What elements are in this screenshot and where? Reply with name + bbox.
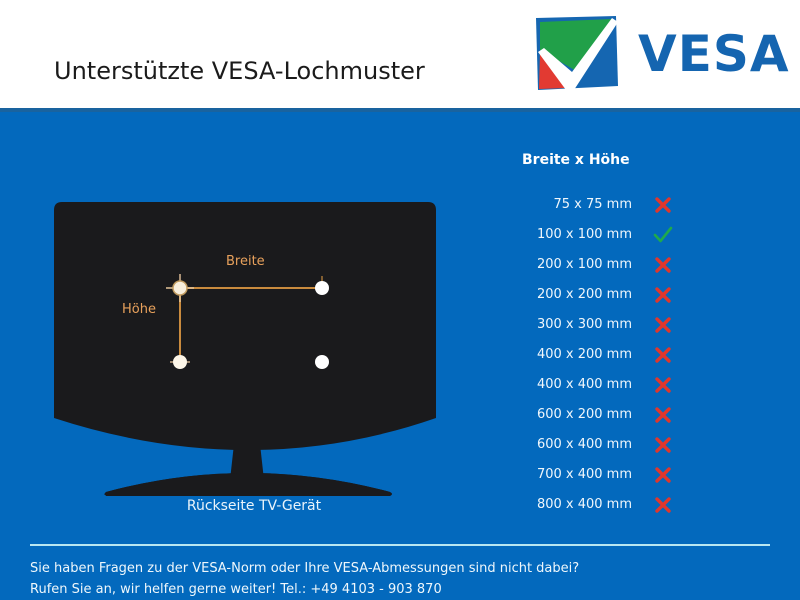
height-dimension-label: Höhe xyxy=(122,302,156,317)
vesa-size-label: 300 x 300 mm xyxy=(490,317,632,332)
vesa-size-label: 700 x 400 mm xyxy=(490,467,632,482)
table-row: 200 x 100 mm xyxy=(490,254,720,284)
vesa-size-label: 800 x 400 mm xyxy=(490,497,632,512)
page-title: Unterstützte VESA-Lochmuster xyxy=(54,57,425,85)
footer-line-2: Rufen Sie an, wir helfen gerne weiter! T… xyxy=(30,579,579,600)
vesa-size-label: 600 x 200 mm xyxy=(490,407,632,422)
tv-rear-view-icon xyxy=(44,192,464,582)
vesa-size-label: 75 x 75 mm xyxy=(490,197,632,212)
vesa-logo: VESA xyxy=(534,16,784,92)
vesa-size-label: 400 x 400 mm xyxy=(490,377,632,392)
vesa-size-label: 100 x 100 mm xyxy=(490,227,632,242)
table-column-header: Breite x Höhe xyxy=(522,152,630,168)
unsupported-cross-icon xyxy=(652,374,674,396)
table-row: 800 x 400 mm xyxy=(490,494,720,524)
unsupported-cross-icon xyxy=(652,404,674,426)
table-row: 400 x 200 mm xyxy=(490,344,720,374)
table-row: 400 x 400 mm xyxy=(490,374,720,404)
vesa-size-label: 200 x 200 mm xyxy=(490,287,632,302)
table-row: 300 x 300 mm xyxy=(490,314,720,344)
unsupported-cross-icon xyxy=(652,254,674,276)
table-row: 75 x 75 mm xyxy=(490,194,720,224)
mounting-hole-icon xyxy=(173,281,187,295)
diagram-caption: Rückseite TV-Gerät xyxy=(44,498,464,514)
unsupported-cross-icon xyxy=(652,434,674,456)
vesa-size-label: 400 x 200 mm xyxy=(490,347,632,362)
footer-divider xyxy=(30,544,770,546)
footer-contact-text: Sie haben Fragen zu der VESA-Norm oder I… xyxy=(30,558,579,600)
vesa-wordmark: VESA xyxy=(638,23,790,85)
table-row: 200 x 200 mm xyxy=(490,284,720,314)
table-row: 600 x 400 mm xyxy=(490,434,720,464)
unsupported-cross-icon xyxy=(652,464,674,486)
tv-rear-diagram: Breite Höhe xyxy=(44,192,464,582)
table-body: 75 x 75 mm100 x 100 mm200 x 100 mm200 x … xyxy=(490,194,720,524)
unsupported-cross-icon xyxy=(652,344,674,366)
unsupported-cross-icon xyxy=(652,194,674,216)
vesa-size-label: 600 x 400 mm xyxy=(490,437,632,452)
vesa-info-slide: Unterstützte VESA-Lochmuster VESA xyxy=(0,0,800,600)
unsupported-cross-icon xyxy=(652,284,674,306)
table-row: 600 x 200 mm xyxy=(490,404,720,434)
unsupported-cross-icon xyxy=(652,314,674,336)
width-dimension-label: Breite xyxy=(226,254,265,269)
vesa-checkmark-logo-icon xyxy=(534,16,618,92)
unsupported-cross-icon xyxy=(652,494,674,516)
panel-top-stripe xyxy=(0,108,800,112)
table-row: 100 x 100 mm xyxy=(490,224,720,254)
footer-line-1: Sie haben Fragen zu der VESA-Norm oder I… xyxy=(30,558,579,579)
supported-check-icon xyxy=(652,224,674,246)
vesa-size-label: 200 x 100 mm xyxy=(490,257,632,272)
table-row: 700 x 400 mm xyxy=(490,464,720,494)
content-panel: Breite Höhe Rückseite TV-Gerät Breite x … xyxy=(0,108,800,600)
header-bar: Unterstützte VESA-Lochmuster VESA xyxy=(0,0,800,108)
